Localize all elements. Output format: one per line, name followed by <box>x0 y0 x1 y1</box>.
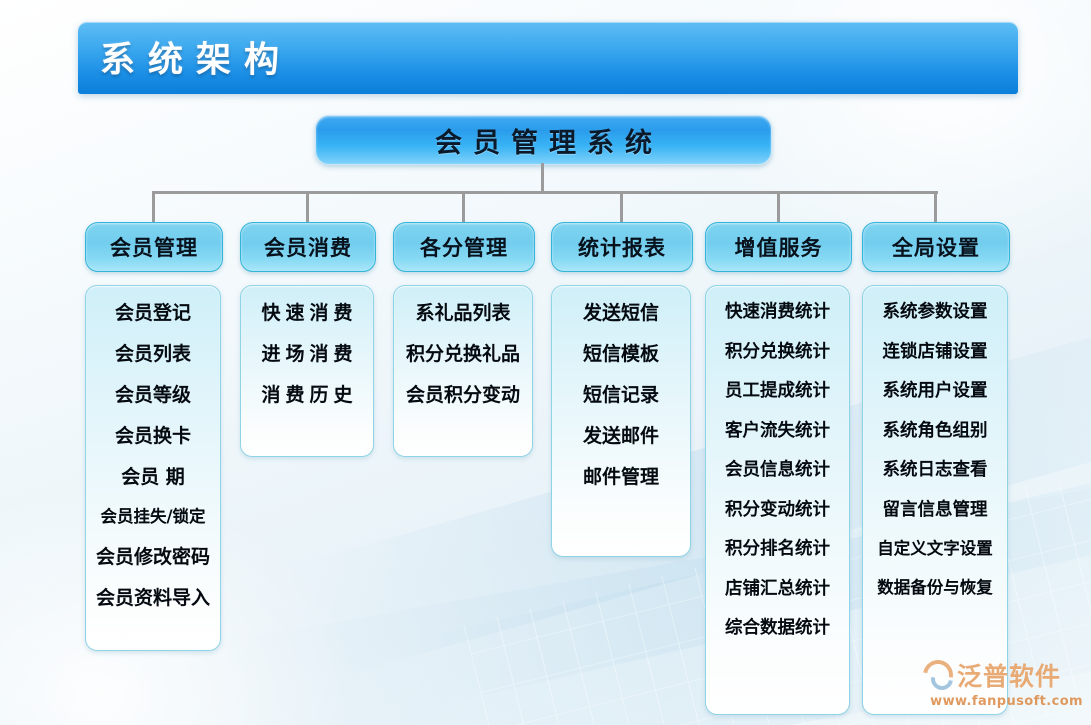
menu-item[interactable]: 消费历史 <box>241 386 373 405</box>
menu-item[interactable]: 系礼品列表 <box>394 304 532 323</box>
category-header-label: 全局设置 <box>892 232 980 262</box>
fanpu-swirl-icon <box>923 660 953 690</box>
menu-item[interactable]: 数据备份与恢复 <box>863 580 1007 597</box>
menu-item[interactable]: 自定义文字设置 <box>863 541 1007 558</box>
root-node-label: 会员管理系统 <box>424 121 663 160</box>
menu-item[interactable]: 发送短信 <box>552 304 690 323</box>
menu-item[interactable]: 店铺汇总统计 <box>706 581 849 599</box>
menu-item[interactable]: 会员修改密码 <box>86 548 220 567</box>
connector-drop-0 <box>152 191 155 222</box>
logo-row: 泛普软件 <box>923 657 1083 693</box>
menu-item[interactable]: 积分兑换礼品 <box>394 345 532 364</box>
menu-item[interactable]: 快速消费统计 <box>706 304 849 322</box>
category-header-label: 统计报表 <box>578 232 666 262</box>
menu-item[interactable]: 短信模板 <box>552 345 690 364</box>
root-node-member-management-system[interactable]: 会员管理系统 <box>315 115 772 165</box>
logo-website-url: www.fanpusoft.com <box>923 694 1083 709</box>
menu-item[interactable]: 积分排名统计 <box>706 541 849 559</box>
menu-item[interactable]: 会员信息统计 <box>706 462 849 480</box>
item-panel-6: 系统参数设置连锁店铺设置系统用户设置系统角色组别系统日志查看留言信息管理自定义文… <box>862 285 1008 715</box>
item-panel-2: 快速消费进场消费消费历史 <box>240 285 374 457</box>
item-panel-1: 会员登记会员列表会员等级会员换卡会员 期会员挂失/锁定会员修改密码会员资料导入 <box>85 285 221 651</box>
menu-item[interactable]: 会员资料导入 <box>86 589 220 608</box>
header-banner: 系统架构 <box>78 22 1018 94</box>
menu-item[interactable]: 会员挂失/锁定 <box>86 509 220 526</box>
category-header-label: 增值服务 <box>735 232 823 262</box>
page-title: 系统架构 <box>100 31 292 82</box>
menu-item[interactable]: 综合数据统计 <box>706 620 849 638</box>
connector-drop-2 <box>462 191 465 222</box>
menu-item[interactable]: 留言信息管理 <box>863 502 1007 520</box>
category-header-3[interactable]: 各分管理 <box>393 222 535 272</box>
menu-item[interactable]: 快速消费 <box>241 304 373 323</box>
menu-item[interactable]: 会员 期 <box>86 468 220 487</box>
diagram-canvas: 系统架构 会员管理系统 会员管理会员消费各分管理统计报表增值服务全局设置 会员登… <box>0 0 1091 725</box>
category-header-label: 会员管理 <box>110 232 198 262</box>
menu-item[interactable]: 邮件管理 <box>552 468 690 487</box>
watermark-logo: 泛普软件 www.fanpusoft.com <box>923 657 1083 719</box>
menu-item[interactable]: 积分变动统计 <box>706 502 849 520</box>
menu-item[interactable]: 系统日志查看 <box>863 462 1007 480</box>
menu-item[interactable]: 系统角色组别 <box>863 423 1007 441</box>
menu-item[interactable]: 系统用户设置 <box>863 383 1007 401</box>
menu-item[interactable]: 积分兑换统计 <box>706 344 849 362</box>
category-header-label: 各分管理 <box>420 232 508 262</box>
category-header-2[interactable]: 会员消费 <box>240 222 376 272</box>
connector-drop-5 <box>934 191 937 222</box>
category-header-label: 会员消费 <box>264 232 352 262</box>
category-header-1[interactable]: 会员管理 <box>85 222 223 272</box>
item-panel-5: 快速消费统计积分兑换统计员工提成统计客户流失统计会员信息统计积分变动统计积分排名… <box>705 285 850 715</box>
menu-item[interactable]: 短信记录 <box>552 386 690 405</box>
menu-item[interactable]: 会员登记 <box>86 304 220 323</box>
category-header-6[interactable]: 全局设置 <box>862 222 1010 272</box>
menu-item[interactable]: 会员列表 <box>86 345 220 364</box>
connector-horizontal-bus <box>152 191 938 194</box>
menu-item[interactable]: 系统参数设置 <box>863 304 1007 322</box>
logo-company-name: 泛普软件 <box>957 657 1061 693</box>
menu-item[interactable]: 进场消费 <box>241 345 373 364</box>
connector-drop-3 <box>620 191 623 222</box>
connector-root-stem <box>541 163 544 193</box>
connector-drop-1 <box>306 191 309 222</box>
connector-drop-4 <box>777 191 780 222</box>
item-panel-4: 发送短信短信模板短信记录发送邮件邮件管理 <box>551 285 691 557</box>
menu-item[interactable]: 连锁店铺设置 <box>863 344 1007 362</box>
category-header-5[interactable]: 增值服务 <box>705 222 852 272</box>
menu-item[interactable]: 会员换卡 <box>86 427 220 446</box>
menu-item[interactable]: 发送邮件 <box>552 427 690 446</box>
category-header-4[interactable]: 统计报表 <box>551 222 693 272</box>
item-panel-3: 系礼品列表积分兑换礼品会员积分变动 <box>393 285 533 457</box>
menu-item[interactable]: 会员等级 <box>86 386 220 405</box>
menu-item[interactable]: 客户流失统计 <box>706 423 849 441</box>
menu-item[interactable]: 会员积分变动 <box>394 386 532 405</box>
menu-item[interactable]: 员工提成统计 <box>706 383 849 401</box>
